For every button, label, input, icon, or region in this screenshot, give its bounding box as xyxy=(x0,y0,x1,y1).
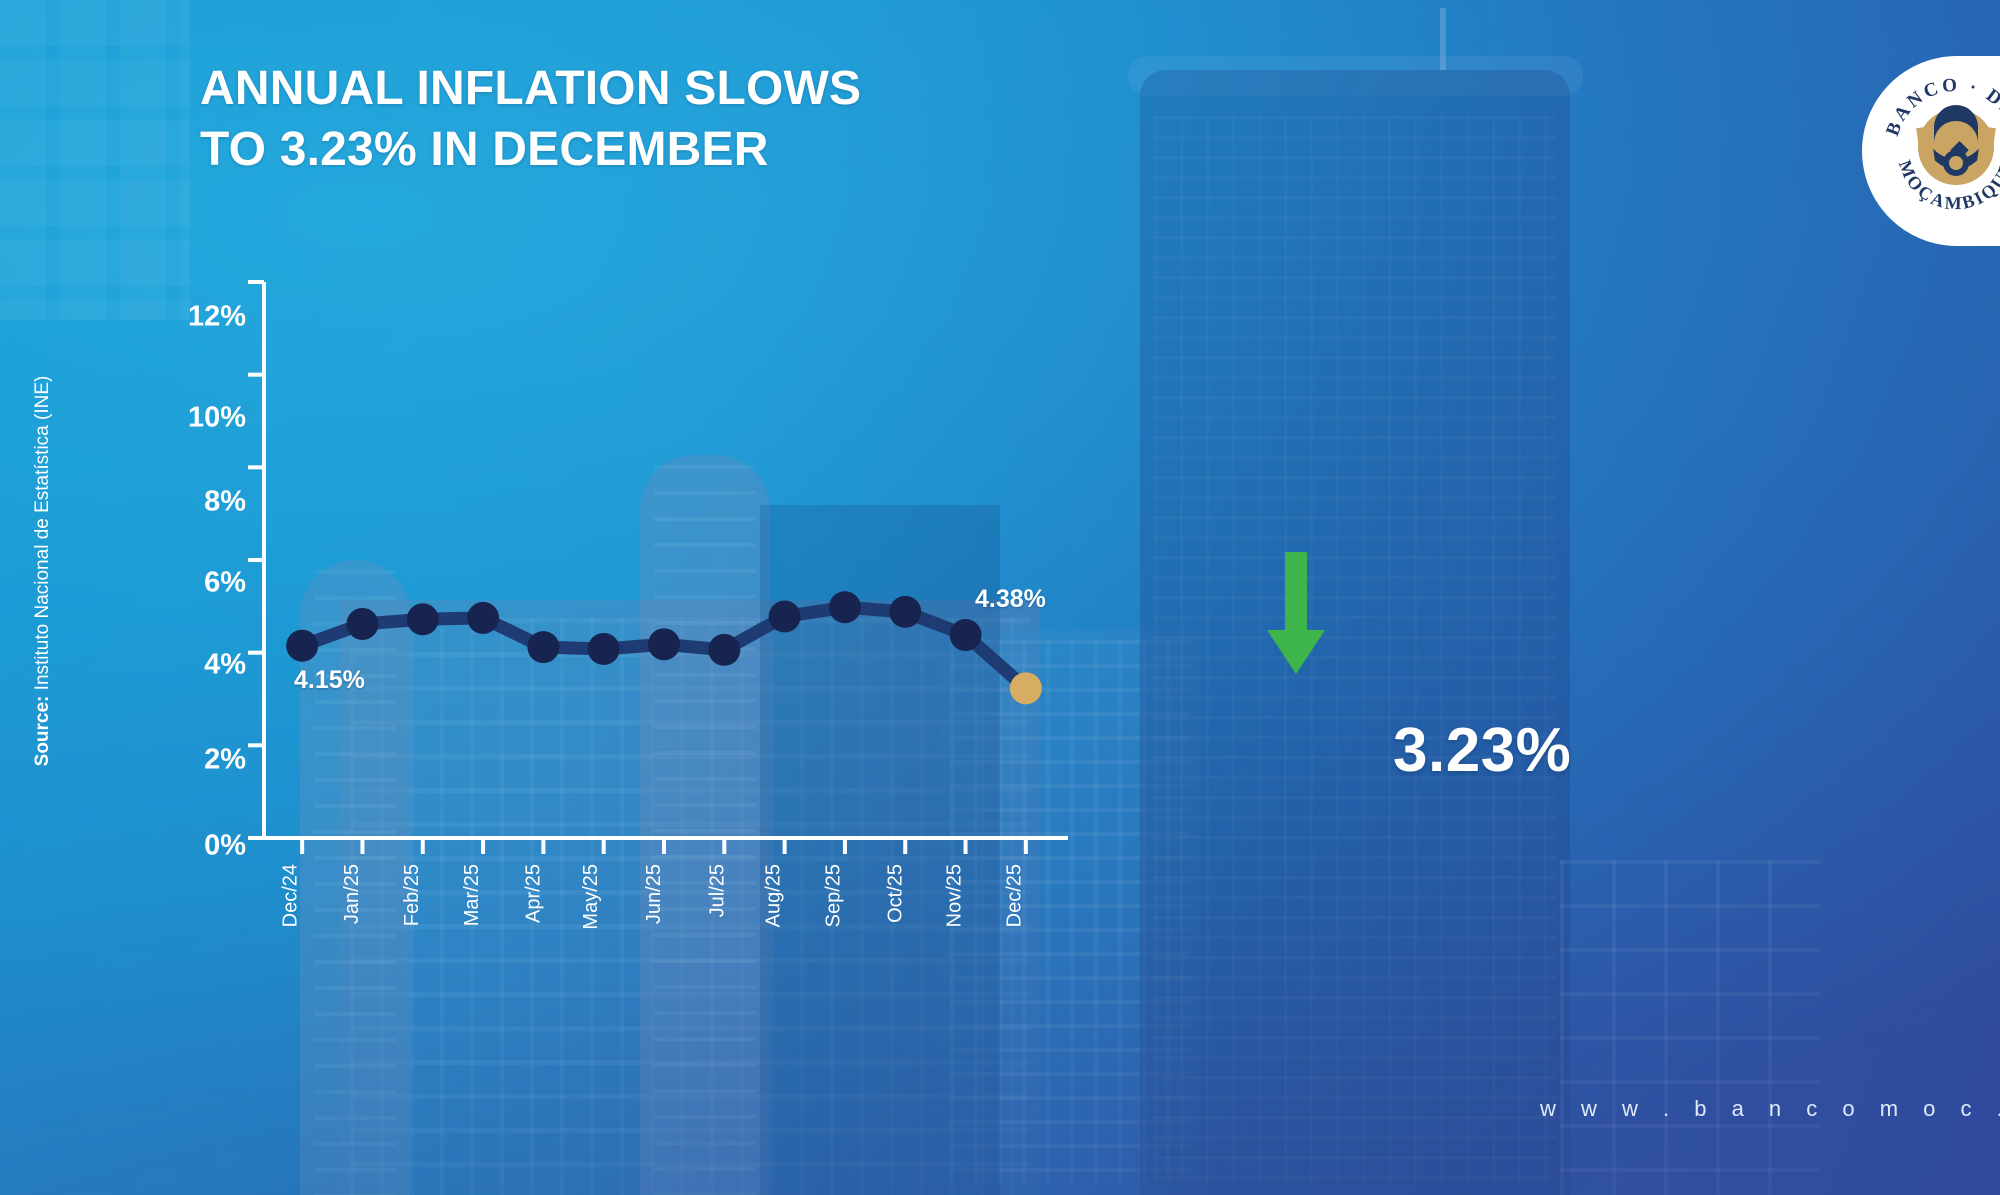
x-tick-label-jun-25: Jun/25 xyxy=(643,864,703,887)
data-point-feb-25[interactable] xyxy=(407,603,439,635)
data-point-may-25[interactable] xyxy=(588,633,620,665)
x-tick-label-feb-25: Feb/25 xyxy=(401,864,463,887)
callout-first-point: 4.15% xyxy=(294,666,365,695)
data-point-dec-24[interactable] xyxy=(286,630,318,662)
x-tick-label-may-25: May/25 xyxy=(580,864,646,887)
x-tick-label-dec-24: Dec/24 xyxy=(279,864,342,887)
inflation-series-markers xyxy=(286,591,1042,704)
website-url: w w w . b a n c o m o c . m z xyxy=(1540,1096,2000,1122)
x-tick-label-mar-25: Mar/25 xyxy=(461,864,523,887)
banco-de-mocambique-seal-icon: BANCO · DE · MOÇAMBIQUE xyxy=(1876,71,2000,231)
data-point-apr-25[interactable] xyxy=(527,631,559,663)
arrow-down-icon xyxy=(1265,552,1327,677)
x-tick-label-jul-25: Jul/25 xyxy=(707,864,760,887)
x-tick-label-sep-25: Sep/25 xyxy=(822,864,885,887)
x-tick-label-dec-25: Dec/25 xyxy=(1003,864,1066,887)
chart-plot-area xyxy=(0,0,1400,1195)
y-axis-ticks xyxy=(248,282,264,838)
inflation-line-chart: Source: Instituto Nacional de Estatístic… xyxy=(0,0,1400,1195)
infographic-canvas: ANNUAL INFLATION SLOWS TO 3.23% IN DECEM… xyxy=(0,0,2000,1195)
data-point-aug-25[interactable] xyxy=(769,601,801,633)
x-tick-label-oct-25: Oct/25 xyxy=(885,864,944,887)
data-point-jun-25[interactable] xyxy=(648,628,680,660)
data-point-jan-25[interactable] xyxy=(346,608,378,640)
x-tick-label-aug-25: Aug/25 xyxy=(762,864,825,887)
data-point-mar-25[interactable] xyxy=(467,602,499,634)
data-point-nov-25[interactable] xyxy=(950,619,982,651)
x-axis-ticks xyxy=(302,838,1026,854)
data-point-sep-25[interactable] xyxy=(829,591,861,623)
data-point-dec-25[interactable] xyxy=(1010,672,1042,704)
x-tick-label-apr-25: Apr/25 xyxy=(523,864,582,887)
x-tick-label-jan-25: Jan/25 xyxy=(341,864,401,887)
callout-peak-point: 4.38% xyxy=(975,585,1046,614)
data-point-oct-25[interactable] xyxy=(889,596,921,628)
headline-value: 3.23% xyxy=(1393,715,1571,786)
bank-logo: BANCO · DE · MOÇAMBIQUE xyxy=(1862,56,2000,246)
x-tick-label-nov-25: Nov/25 xyxy=(943,864,1006,887)
data-point-jul-25[interactable] xyxy=(708,634,740,666)
